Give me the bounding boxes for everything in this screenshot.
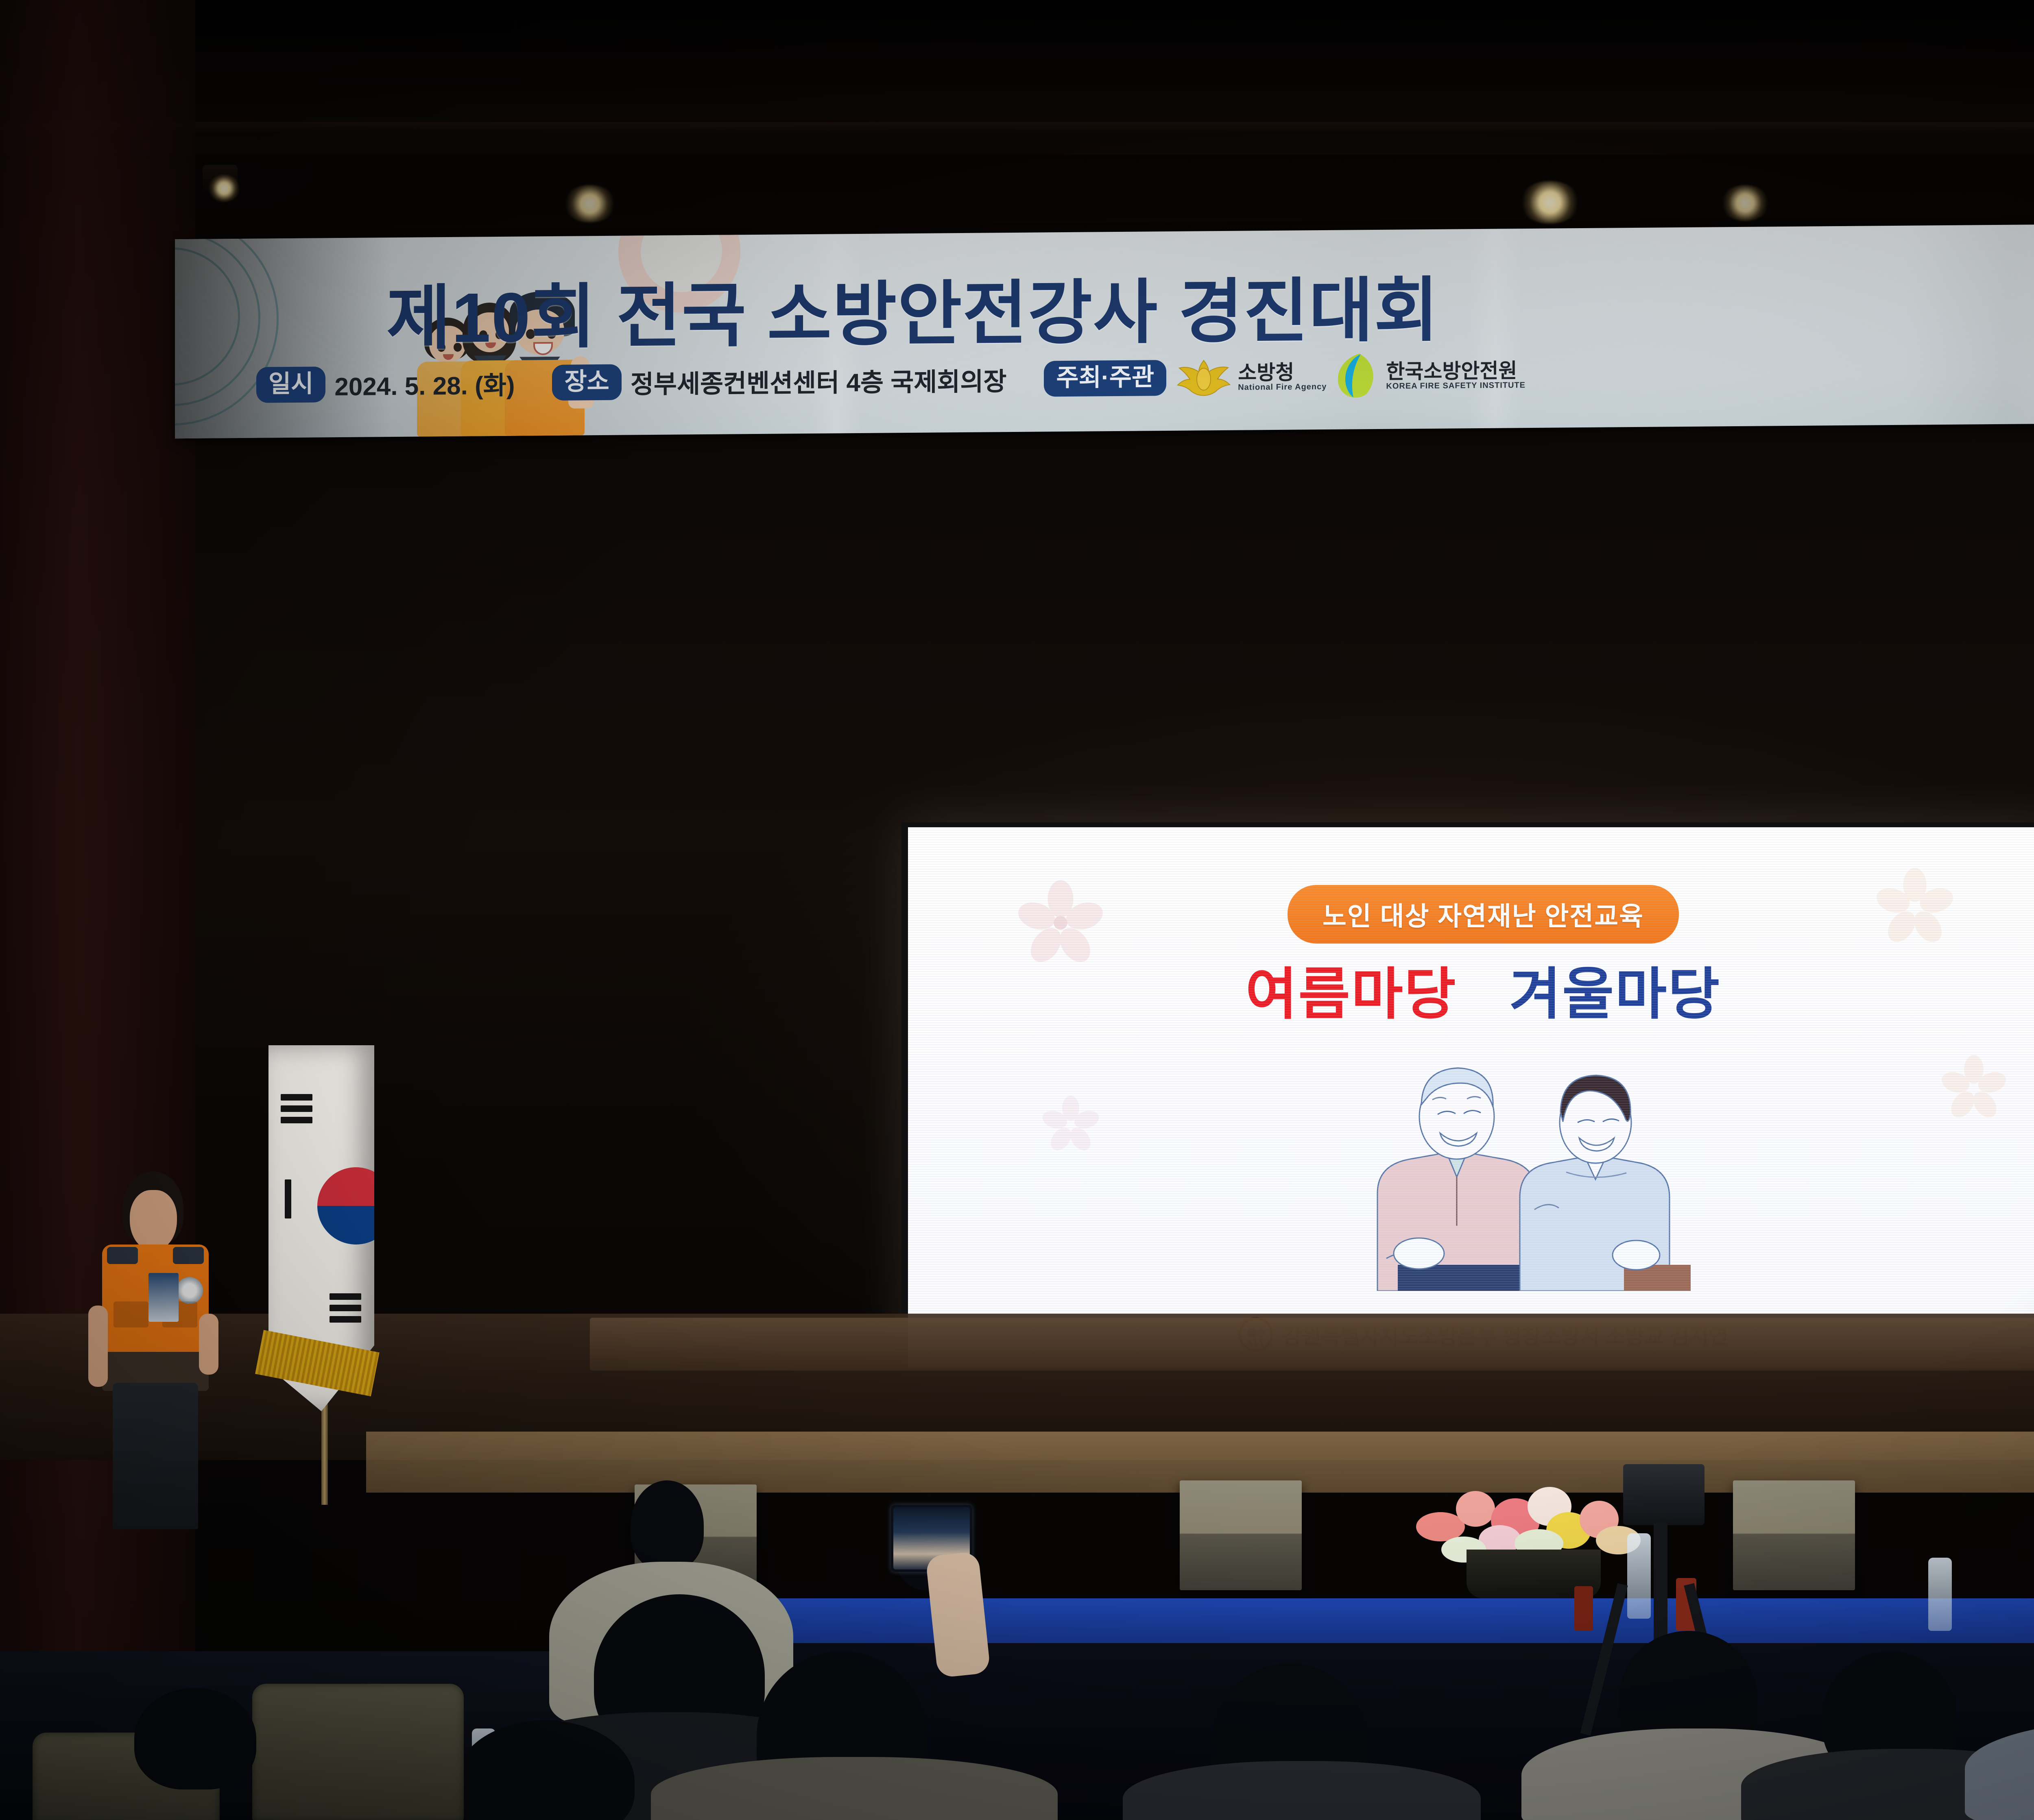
- event-banner: 제10회 전국 소방안전강사 경진대회 일시 2024. 5. 28. (화) …: [175, 220, 2034, 438]
- audience-head: [134, 1688, 256, 1789]
- audience-person: [651, 1757, 1058, 1820]
- stage-light-icon: [1519, 181, 1580, 224]
- camera-on-tripod: [1623, 1464, 1704, 1525]
- firefighter-presenter: [87, 1171, 222, 1529]
- stage-light-icon: [208, 175, 240, 202]
- leaf-swoosh-icon: [1336, 352, 1380, 401]
- banner-subline: 일시 2024. 5. 28. (화) 장소 정부세종컨벤션센터 4층 국제회의…: [256, 351, 1525, 410]
- eagle-emblem-icon: [1175, 358, 1232, 397]
- banquet-chair: [252, 1684, 464, 1820]
- date-value: 2024. 5. 28. (화): [334, 365, 515, 403]
- flower-arrangement: [1405, 1464, 1658, 1598]
- stage-light-icon: [1721, 185, 1770, 221]
- logo-name-en: KOREA FIRE SAFETY INSTITUTE: [1386, 381, 1525, 391]
- presenter-arm: [88, 1306, 108, 1387]
- logo-national-fire-agency: 소방청 National Fire Agency: [1175, 357, 1327, 397]
- condiment-bottle-icon: [1574, 1586, 1593, 1631]
- head-table-skirt: [602, 1598, 2034, 1647]
- logo-name-ko: 한국소방안전원: [1386, 360, 1525, 382]
- stage-monitor-speaker: [1733, 1480, 1855, 1590]
- logo-korea-fire-safety-institute: 한국소방안전원 KOREA FIRE SAFETY INSTITUTE: [1336, 351, 1525, 401]
- stage-apron: [590, 1318, 2034, 1371]
- projection-screen: 노인 대상 자연재난 안전교육 여름마당 겨울마당: [908, 827, 2034, 1368]
- presenter-arm: [199, 1314, 218, 1375]
- venue-label-pill: 장소: [552, 364, 621, 401]
- date-label-pill: 일시: [256, 366, 325, 403]
- logo-name-ko: 소방청: [1238, 362, 1327, 383]
- korean-national-flag: [268, 1045, 374, 1411]
- presenter-face: [130, 1190, 177, 1251]
- stage-light-icon: [563, 185, 616, 222]
- presenter-id-badge: [148, 1273, 179, 1322]
- shoulder-epaulette: [107, 1247, 138, 1264]
- presenter-legs: [113, 1383, 198, 1529]
- venue-value: 정부세종컨벤션센터 4층 국제회의장: [631, 361, 1007, 400]
- auditorium-photo: 제10회 전국 소방안전강사 경진대회 일시 2024. 5. 28. (화) …: [0, 0, 2034, 1820]
- host-label-pill: 주최·주관: [1044, 360, 1166, 397]
- logo-name-en: National Fire Agency: [1238, 382, 1327, 392]
- stage-curtain-left: [0, 0, 195, 1820]
- banner-title: 제10회 전국 소방안전강사 경진대회: [386, 248, 2014, 363]
- water-bottle-icon: [1928, 1558, 1952, 1631]
- water-bottle-icon: [1627, 1533, 1651, 1619]
- lighting-truss: [0, 122, 2034, 133]
- agency-patch-icon: [176, 1277, 203, 1304]
- shoulder-epaulette: [173, 1247, 204, 1264]
- stage-monitor-speaker: [1180, 1480, 1302, 1590]
